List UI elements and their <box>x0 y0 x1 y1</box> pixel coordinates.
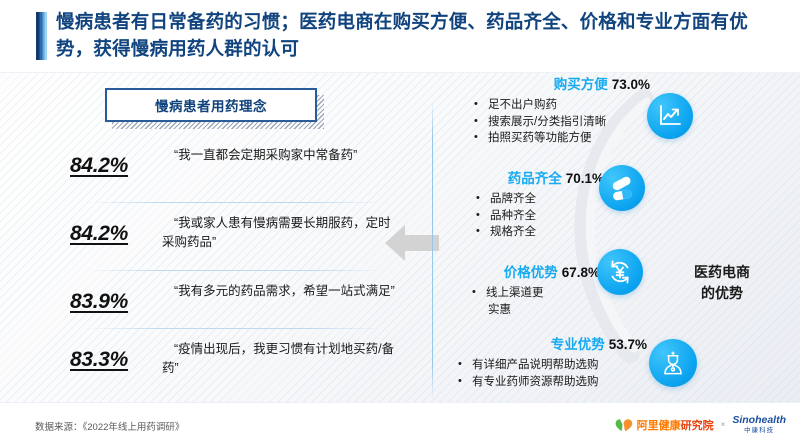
logo-area: 阿里健康研究院 × Sinohealth 中康科技 <box>615 415 786 434</box>
heart-check-icon <box>615 418 633 432</box>
advantage-block-price: 价格优势67.8% 线上渠道更 实惠 <box>432 264 600 318</box>
left-panel-title-block: 慢病患者用药理念 <box>105 88 317 122</box>
chart-trend-up-icon <box>647 93 693 139</box>
ali-logo-part1: 阿里健康 <box>637 420 681 432</box>
advantage-block-convenience: 购买方便73.0% 足不出户购药 搜索展示/分类指引清晰 拍照买药等功能方便 <box>450 76 650 147</box>
advantage-heading: 价格优势67.8% <box>432 264 600 281</box>
bullet-item: 规格齐全 <box>474 224 604 241</box>
advantage-value: 53.7% <box>609 337 647 352</box>
pharmacist-icon <box>649 339 697 387</box>
stat-quote: “我一直都会定期采购家中常备药” <box>162 140 400 165</box>
stat-percent: 84.2% <box>70 140 162 178</box>
stat-quote: “我或家人患有慢病需要长期服药，定时采购药品” <box>162 208 400 252</box>
slide-header: 慢病患者有日常备药的习惯；医药电商在购买方便、药品齐全、价格和专业方面有优势，获… <box>0 0 800 73</box>
left-panel-title-box: 慢病患者用药理念 <box>105 88 317 122</box>
advantage-name: 药品齐全 <box>508 171 562 186</box>
stat-percent: 83.3% <box>70 334 162 372</box>
logo-separator: × <box>721 420 726 429</box>
advantage-value: 73.0% <box>612 77 650 92</box>
bullet-item-continuation: 实惠 <box>470 302 600 319</box>
stat-row: 83.3% “疫情出现后，我更习惯有计划地买药/备药” <box>70 334 400 396</box>
advantage-block-assortment: 药品齐全70.1% 品牌齐全 品种齐全 规格齐全 <box>432 170 604 241</box>
yuan-refresh-icon <box>597 249 643 295</box>
capsule-pills-icon <box>599 165 645 211</box>
advantage-bullet-list: 足不出户购药 搜索展示/分类指引清晰 拍照买药等功能方便 <box>472 97 650 147</box>
left-pointing-arrow-icon <box>385 222 439 264</box>
left-panel-title-label: 慢病患者用药理念 <box>155 95 267 115</box>
sinohealth-logo: Sinohealth 中康科技 <box>732 415 786 434</box>
bullet-item: 线上渠道更 <box>470 285 600 302</box>
right-panel: 医药电商 的优势 购买方便73.0% 足不出户购药 搜索展示/分类指引清晰 拍照… <box>432 72 800 402</box>
advantage-block-professional: 专业优势53.7% 有详细产品说明帮助选购 有专业药师资源帮助选购 <box>442 336 647 390</box>
slide-canvas: 慢病患者有日常备药的习惯；医药电商在购买方便、药品齐全、价格和专业方面有优势，获… <box>0 0 800 448</box>
advantage-heading: 购买方便73.0% <box>450 76 650 93</box>
stat-quote: “疫情出现后，我更习惯有计划地买药/备药” <box>162 334 400 378</box>
bullet-item: 搜索展示/分类指引清晰 <box>472 114 650 131</box>
center-label: 医药电商 的优势 <box>662 262 782 304</box>
stat-quote: “我有多元的药品需求，希望一站式满足” <box>162 276 400 301</box>
stat-row: 84.2% “我一直都会定期采购家中常备药” <box>70 140 400 202</box>
stat-percent: 83.9% <box>70 276 162 314</box>
bullet-item: 有详细产品说明帮助选购 <box>456 357 647 374</box>
advantage-bullet-list: 有详细产品说明帮助选购 有专业药师资源帮助选购 <box>456 357 647 390</box>
bullet-item: 品牌齐全 <box>474 191 604 208</box>
slide-footer: 数据来源：《2022年线上用药调研》 阿里健康研究院 × Sinohealth … <box>0 402 800 448</box>
header-accent-bar <box>36 12 47 60</box>
bullet-item: 足不出户购药 <box>472 97 650 114</box>
advantage-name: 专业优势 <box>551 337 605 352</box>
advantage-bullet-list: 线上渠道更 实惠 <box>470 285 600 318</box>
advantage-name: 价格优势 <box>504 265 558 280</box>
ali-health-logo: 阿里健康研究院 <box>615 417 714 433</box>
left-panel: 慢病患者用药理念 84.2% “我一直都会定期采购家中常备药” 84.2% “我… <box>0 72 432 402</box>
advantage-heading: 药品齐全70.1% <box>432 170 604 187</box>
sinohealth-logo-en: Sinohealth <box>732 415 786 426</box>
ali-health-logo-text: 阿里健康研究院 <box>637 417 714 433</box>
advantage-value: 67.8% <box>562 265 600 280</box>
bullet-item: 拍照买药等功能方便 <box>472 130 650 147</box>
advantage-name: 购买方便 <box>554 77 608 92</box>
bullet-item: 有专业药师资源帮助选购 <box>456 374 647 391</box>
advantage-heading: 专业优势53.7% <box>442 336 647 353</box>
bullet-item: 品种齐全 <box>474 208 604 225</box>
stat-percent: 84.2% <box>70 208 162 246</box>
center-label-line1: 医药电商 <box>662 262 782 283</box>
center-label-line2: 的优势 <box>662 283 782 304</box>
advantage-bullet-list: 品牌齐全 品种齐全 规格齐全 <box>474 191 604 241</box>
page-title: 慢病患者有日常备药的习惯；医药电商在购买方便、药品齐全、价格和专业方面有优势，获… <box>56 8 776 62</box>
stat-row: 84.2% “我或家人患有慢病需要长期服药，定时采购药品” <box>70 208 400 270</box>
sinohealth-logo-cn: 中康科技 <box>732 428 786 435</box>
source-note: 数据来源：《2022年线上用药调研》 <box>35 419 184 433</box>
ali-logo-part2: 研究院 <box>681 420 714 432</box>
